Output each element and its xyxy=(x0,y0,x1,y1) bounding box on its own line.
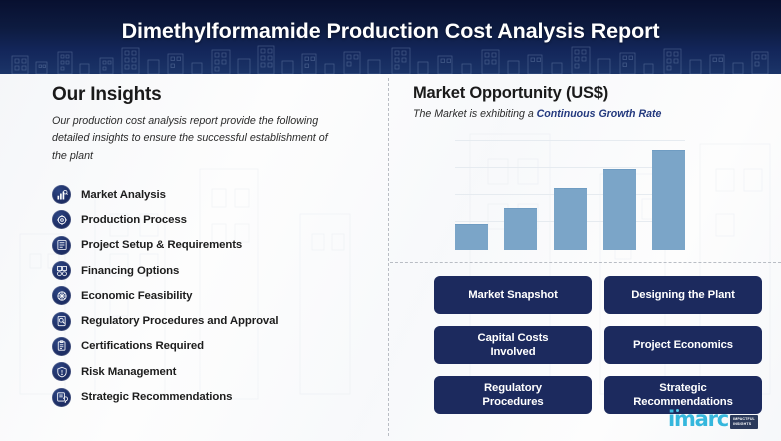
insight-label: Risk Management xyxy=(81,366,176,378)
logo-wordmark: imarc xyxy=(668,409,728,430)
insight-label: Economic Feasibility xyxy=(81,290,192,302)
insights-list: Market Analysis Production Process Proje… xyxy=(52,182,382,410)
insight-item-risk-management[interactable]: Risk Management xyxy=(52,359,382,384)
vertical-dashed-divider xyxy=(388,78,389,436)
report-sections-grid: Market Snapshot Designing the Plant Capi… xyxy=(434,276,762,414)
project-economics-button[interactable]: Project Economics xyxy=(604,326,762,364)
risk-management-icon xyxy=(52,362,71,381)
insights-title: Our Insights xyxy=(52,84,382,106)
market-snapshot-button[interactable]: Market Snapshot xyxy=(434,276,592,314)
designing-the-plant-button[interactable]: Designing the Plant xyxy=(604,276,762,314)
market-opportunity-bar-chart xyxy=(455,138,685,250)
imarc-logo: imarc IMPACTFUL INSIGHTS xyxy=(668,409,758,430)
production-process-icon xyxy=(52,210,71,229)
chart-bar xyxy=(504,208,537,250)
regulatory-procedures-icon xyxy=(52,312,71,331)
insight-label: Financing Options xyxy=(81,265,179,277)
insight-item-project-setup[interactable]: Project Setup & Requirements xyxy=(52,233,382,258)
insight-label: Certifications Required xyxy=(81,340,204,352)
project-setup-icon xyxy=(52,236,71,255)
certifications-icon xyxy=(52,337,71,356)
insight-label: Project Setup & Requirements xyxy=(81,239,242,251)
chart-bar xyxy=(603,169,636,250)
insight-label: Market Analysis xyxy=(81,189,166,201)
insight-item-economic-feasibility[interactable]: Economic Feasibility xyxy=(52,283,382,308)
insight-item-production-process[interactable]: Production Process xyxy=(52,207,382,232)
insight-item-market-analysis[interactable]: Market Analysis xyxy=(52,182,382,207)
regulatory-procedures-button[interactable]: Regulatory Procedures xyxy=(434,376,592,414)
insights-description: Our production cost analysis report prov… xyxy=(52,113,337,165)
market-opportunity-panel: Market Opportunity (US$) The Market is e… xyxy=(413,84,773,120)
insight-label: Regulatory Procedures and Approval xyxy=(81,315,278,327)
capital-costs-involved-button[interactable]: Capital Costs Involved xyxy=(434,326,592,364)
insights-panel: Our Insights Our production cost analysi… xyxy=(52,84,382,410)
report-page: Dimethylformamide Production Cost Analys… xyxy=(0,0,781,441)
market-opportunity-title: Market Opportunity (US$) xyxy=(413,84,773,103)
financing-options-icon xyxy=(52,261,71,280)
market-analysis-icon xyxy=(52,185,71,204)
chart-bar xyxy=(652,150,685,250)
chart-bar xyxy=(554,188,587,250)
subtitle-plain-text: The Market is exhibiting a xyxy=(413,108,537,120)
insight-label: Strategic Recommendations xyxy=(81,391,232,403)
economic-feasibility-icon xyxy=(52,286,71,305)
insight-label: Production Process xyxy=(81,214,187,226)
page-title: Dimethylformamide Production Cost Analys… xyxy=(0,19,781,44)
insight-item-financing-options[interactable]: Financing Options xyxy=(52,258,382,283)
chart-bars xyxy=(455,138,685,250)
insight-item-certifications-required[interactable]: Certifications Required xyxy=(52,334,382,359)
page-header: Dimethylformamide Production Cost Analys… xyxy=(0,0,781,74)
insight-item-strategic-recommendations[interactable]: Strategic Recommendations xyxy=(52,384,382,409)
logo-tagline: IMPACTFUL INSIGHTS xyxy=(730,415,758,429)
strategic-recommendations-icon xyxy=(52,388,71,407)
insight-item-regulatory-procedures[interactable]: Regulatory Procedures and Approval xyxy=(52,308,382,333)
subtitle-accent-text: Continuous Growth Rate xyxy=(537,108,662,120)
horizontal-dashed-divider xyxy=(390,262,781,263)
chart-bar xyxy=(455,224,488,250)
market-opportunity-subtitle: The Market is exhibiting a Continuous Gr… xyxy=(413,108,773,120)
